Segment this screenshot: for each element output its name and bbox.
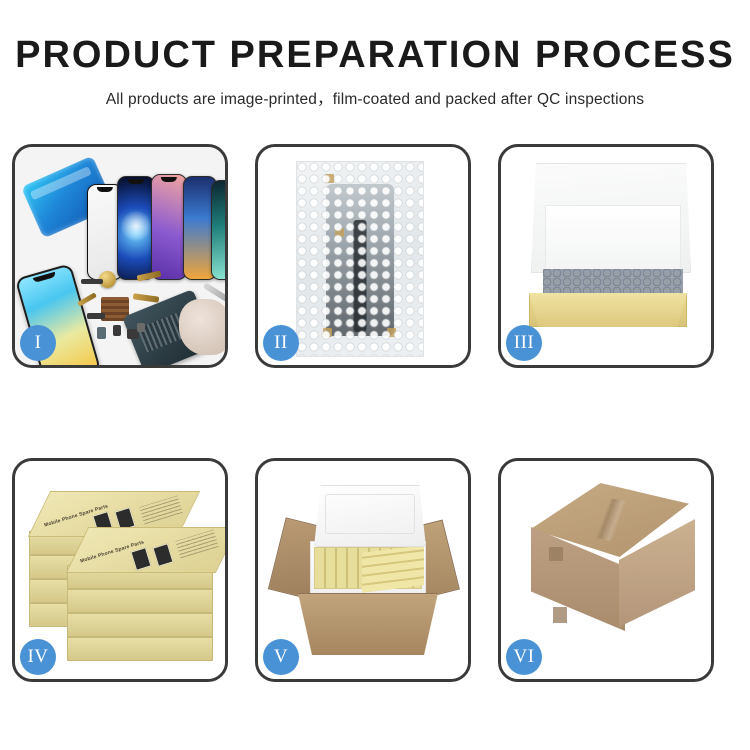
notch-shape bbox=[97, 187, 113, 192]
bubble-texture bbox=[297, 162, 423, 356]
small-part bbox=[113, 325, 121, 336]
page-subtitle: All products are image-printed，film-coat… bbox=[0, 87, 750, 109]
process-step-panel-3: III bbox=[498, 144, 714, 368]
bubble-wrap-bag bbox=[296, 161, 424, 357]
page-title: PRODUCT PREPARATION PROCESS bbox=[0, 36, 750, 76]
small-part bbox=[87, 313, 105, 319]
notch-shape bbox=[161, 177, 177, 182]
phone-screen-teal bbox=[211, 180, 225, 280]
step-badge-3: III bbox=[506, 325, 542, 361]
crack-highlight bbox=[121, 211, 151, 241]
step-badge-4: IV bbox=[20, 639, 56, 675]
small-part bbox=[97, 327, 106, 339]
white-foam-sheet bbox=[545, 205, 681, 271]
stacked-box bbox=[67, 589, 213, 613]
grey-bubble-padding bbox=[543, 269, 683, 295]
flex-cable-part bbox=[133, 293, 160, 303]
yellow-box-front bbox=[529, 293, 687, 327]
phone-screen-purple bbox=[151, 174, 187, 280]
process-step-panel-6: VI bbox=[498, 458, 714, 682]
stacked-box bbox=[67, 637, 213, 661]
foam-lid-open bbox=[314, 485, 426, 547]
phone-screen-fan bbox=[87, 155, 225, 280]
notch-shape bbox=[127, 179, 144, 184]
stacked-box bbox=[67, 613, 213, 637]
carton-tape-patch bbox=[553, 607, 567, 623]
process-step-panel-5: V bbox=[255, 458, 471, 682]
step-badge-2: II bbox=[263, 325, 299, 361]
product-preparation-infographic: PRODUCT PREPARATION PROCESS All products… bbox=[0, 0, 750, 750]
process-step-panel-4: Mobile Phone Spare Parts Mobile Phone Sp… bbox=[12, 458, 228, 682]
carton-front-panel bbox=[298, 593, 438, 655]
small-part bbox=[137, 323, 145, 332]
process-step-panel-1: I bbox=[12, 144, 228, 368]
yellow-boxes-row bbox=[362, 545, 424, 593]
process-step-grid: I II bbox=[12, 144, 738, 684]
flex-cable-part bbox=[77, 292, 97, 306]
box-stack: Mobile Phone Spare Parts Mobile Phone Sp… bbox=[21, 473, 221, 669]
small-part bbox=[81, 279, 103, 284]
step-badge-1: I bbox=[20, 325, 56, 361]
process-step-panel-2: II bbox=[255, 144, 471, 368]
carton-tape-patch bbox=[549, 547, 563, 561]
step-badge-6: VI bbox=[506, 639, 542, 675]
hand-shape bbox=[179, 299, 225, 355]
header: PRODUCT PREPARATION PROCESS All products… bbox=[0, 0, 750, 109]
step-badge-5: V bbox=[263, 639, 299, 675]
phone-screen-blue bbox=[117, 176, 155, 280]
